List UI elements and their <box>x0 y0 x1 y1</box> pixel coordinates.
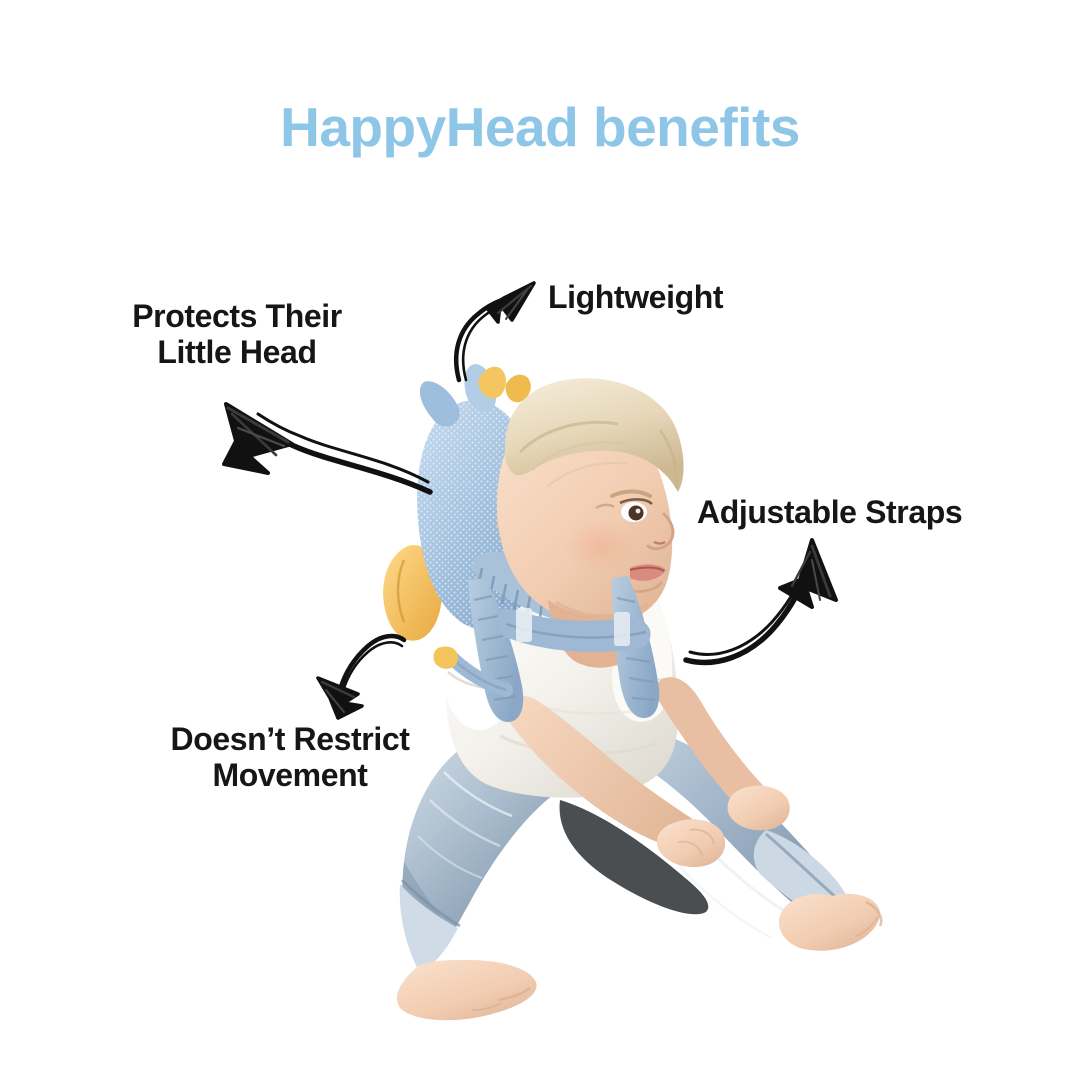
callout-label-lightweight: Lightweight <box>548 280 848 316</box>
arrow-lightweight-icon <box>456 283 534 380</box>
callout-arrows <box>0 0 1080 1080</box>
arrow-protects-icon <box>224 404 430 492</box>
arrow-movement-icon <box>318 636 404 718</box>
promo-graphic-canvas: HappyHead benefits Protects Their Little… <box>0 0 1080 1080</box>
page-title: HappyHead benefits <box>0 98 1080 157</box>
callout-label-adjustable-straps: Adjustable Straps <box>697 495 1027 531</box>
callout-label-protects: Protects Their Little Head <box>72 299 402 371</box>
arrow-straps-icon <box>686 540 836 662</box>
callout-label-movement: Doesn’t Restrict Movement <box>110 722 470 794</box>
